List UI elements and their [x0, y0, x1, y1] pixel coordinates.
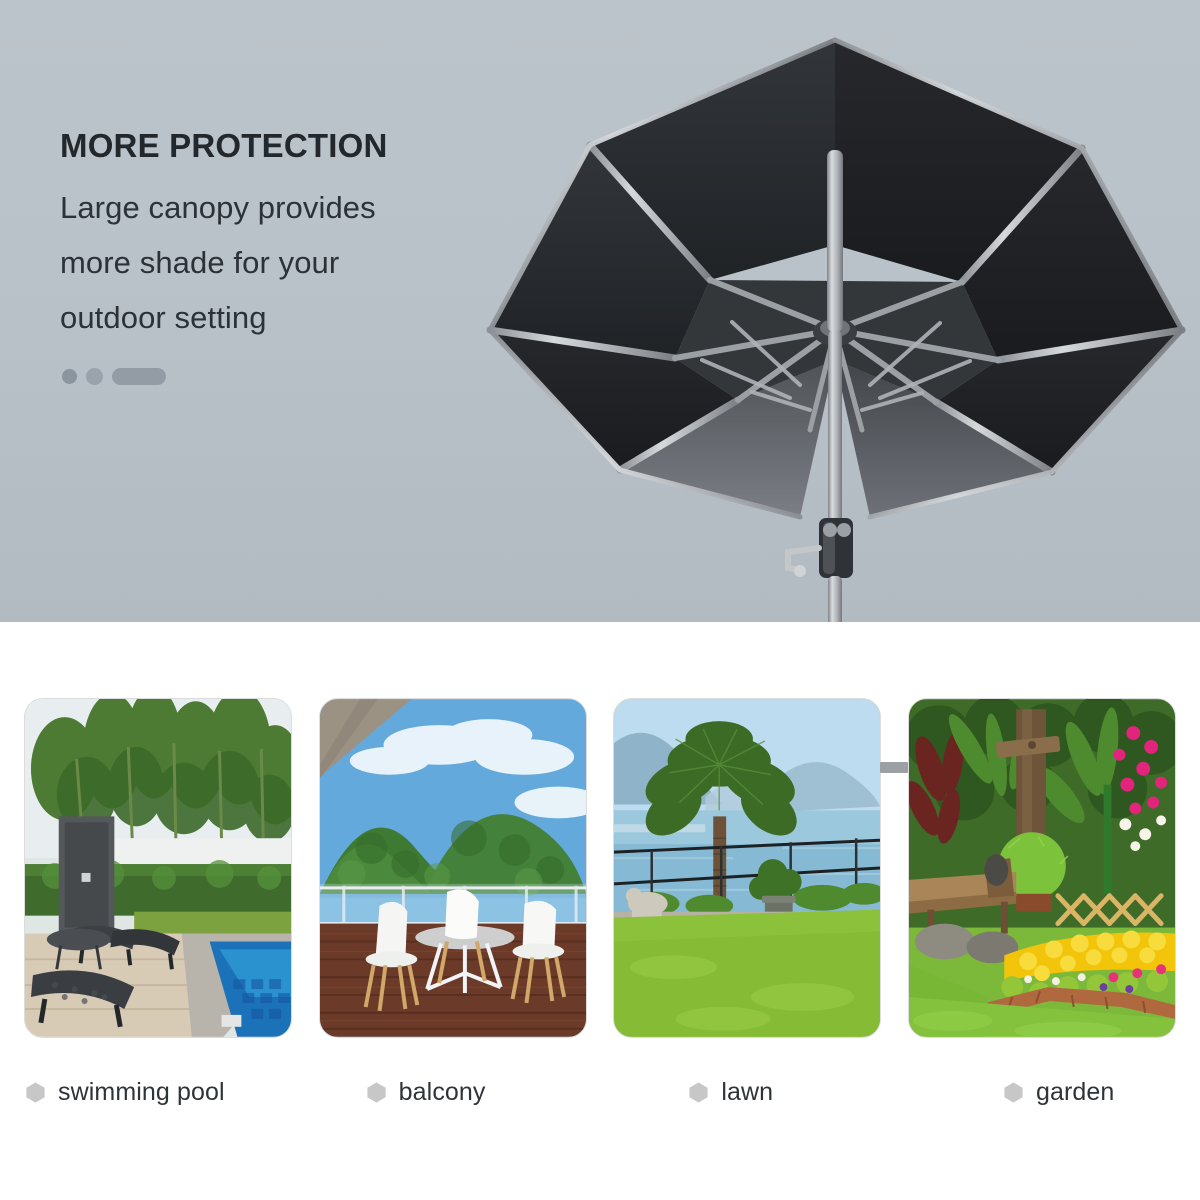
gallery-labels: swimming pool balcony lawn garden	[24, 1070, 1176, 1114]
umbrella-crank	[788, 518, 853, 578]
gallery-label-text: lawn	[721, 1078, 773, 1107]
lawn-photo	[614, 699, 880, 1037]
gallery-card-garden[interactable]	[908, 698, 1176, 1038]
swimming-pool-photo	[25, 699, 291, 1037]
hero-subtitle-line-3: outdoor setting	[60, 290, 480, 345]
gallery-label-lawn: lawn	[613, 1070, 881, 1114]
pager-dot-2[interactable]	[86, 368, 103, 385]
page-title: MORE PROTECTION	[60, 128, 480, 164]
hero-subtitle: Large canopy provides more shade for you…	[60, 180, 480, 345]
carousel-pager[interactable]	[62, 368, 166, 385]
hero-subtitle-line-1: Large canopy provides	[60, 180, 480, 235]
gallery-label-garden: garden	[908, 1070, 1176, 1114]
hexagon-bullet-icon	[687, 1081, 710, 1104]
pager-dot-1[interactable]	[62, 369, 77, 384]
gallery-cards	[24, 698, 1176, 1038]
gallery-card-swimming-pool[interactable]	[24, 698, 292, 1038]
gallery-label-text: garden	[1036, 1078, 1114, 1107]
gallery-label-balcony: balcony	[319, 1070, 587, 1114]
umbrella-pole	[828, 576, 842, 622]
hero-subtitle-line-2: more shade for your	[60, 235, 480, 290]
umbrella-illustration	[470, 30, 1200, 622]
gallery-label-text: balcony	[399, 1078, 486, 1107]
balcony-photo	[320, 699, 586, 1037]
hexagon-bullet-icon	[24, 1081, 47, 1104]
gallery-label-swimming-pool: swimming pool	[24, 1070, 292, 1114]
umbrella-product-image	[470, 30, 1200, 622]
umbrella-lower-mast	[828, 330, 842, 530]
hero-section: MORE PROTECTION Large canopy provides mo…	[0, 0, 1200, 622]
hexagon-bullet-icon	[1002, 1081, 1025, 1104]
use-case-gallery: swimming pool balcony lawn garden	[0, 622, 1200, 1200]
gallery-card-lawn[interactable]	[613, 698, 881, 1038]
hero-copy-block: MORE PROTECTION Large canopy provides mo…	[60, 128, 480, 345]
thumbnail-connector-bar	[880, 762, 908, 773]
garden-photo	[909, 699, 1175, 1037]
gallery-card-balcony[interactable]	[319, 698, 587, 1038]
product-feature-page: MORE PROTECTION Large canopy provides mo…	[0, 0, 1200, 1200]
gallery-label-text: swimming pool	[58, 1078, 225, 1107]
pager-pill-3[interactable]	[112, 368, 166, 385]
hexagon-bullet-icon	[365, 1081, 388, 1104]
umbrella-upper-mast	[827, 150, 843, 332]
